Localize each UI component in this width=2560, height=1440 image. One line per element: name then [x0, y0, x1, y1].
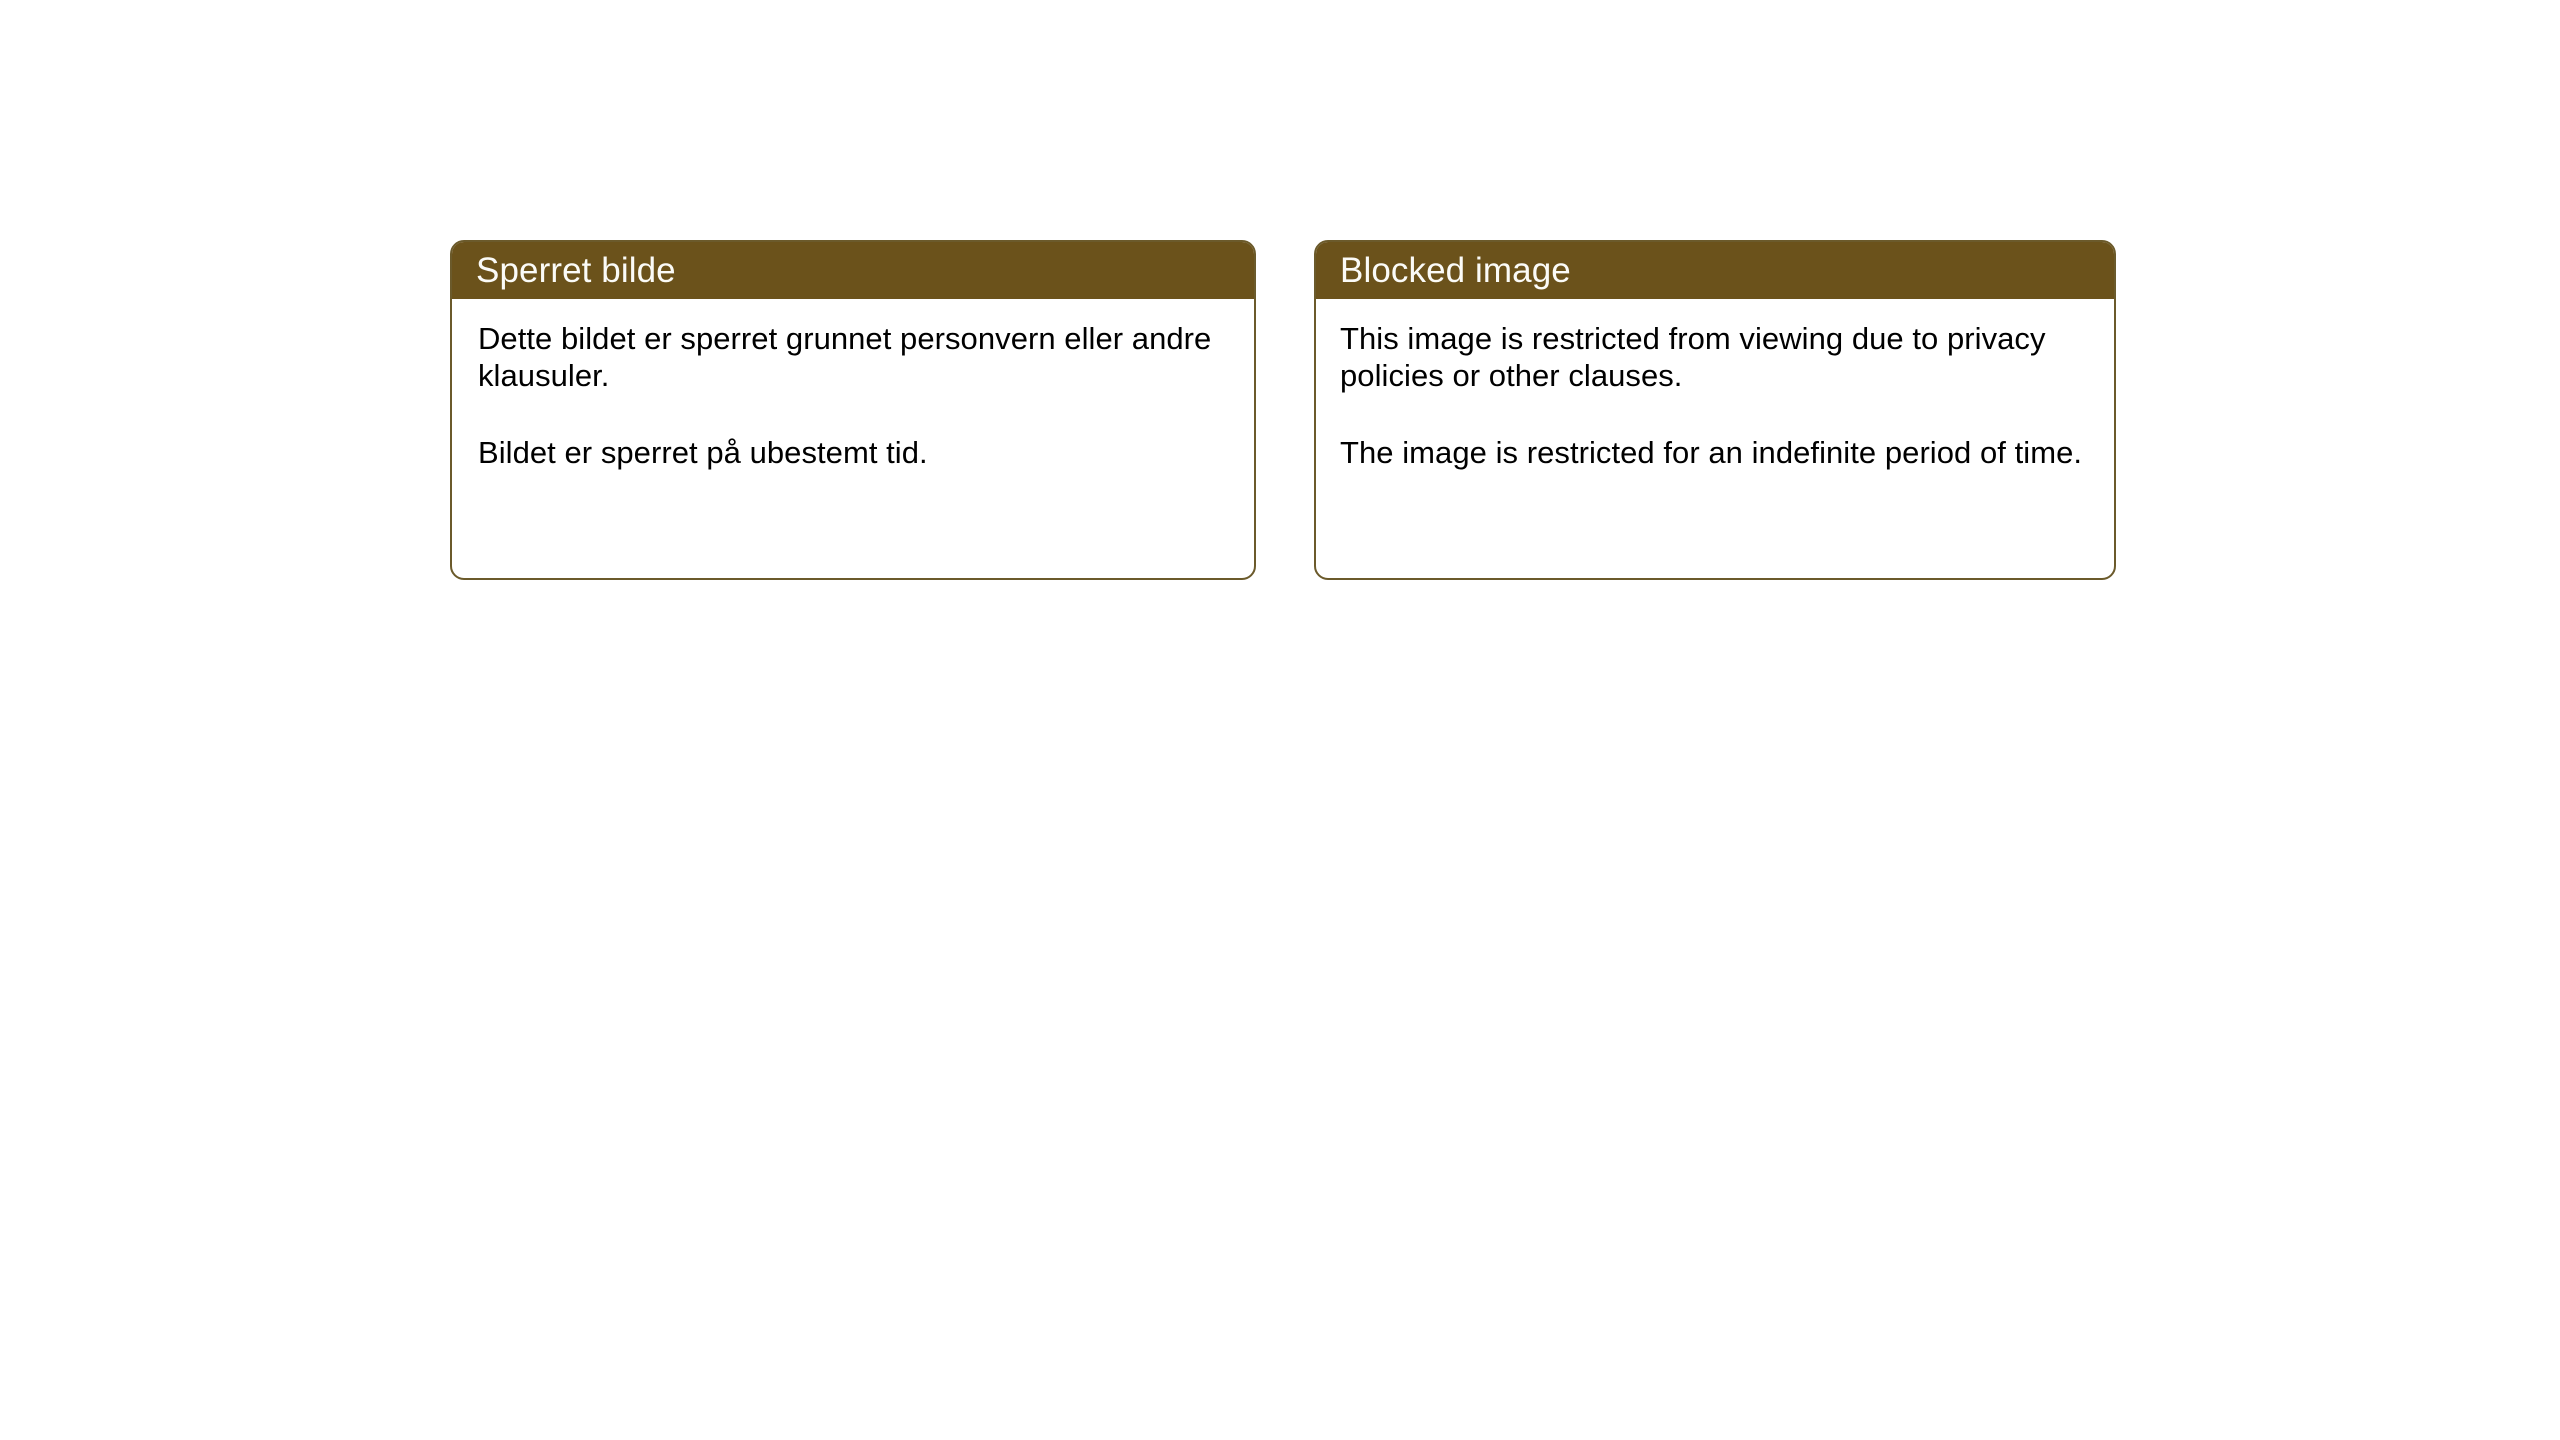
card-header-english: Blocked image: [1316, 242, 2114, 299]
card-title-norwegian: Sperret bilde: [476, 253, 676, 288]
blocked-image-notices: Sperret bilde Dette bildet er sperret gr…: [450, 240, 2116, 580]
card-paragraph-reason-english: This image is restricted from viewing du…: [1340, 321, 2100, 395]
card-paragraph-duration-norwegian: Bildet er sperret på ubestemt tid.: [478, 435, 1234, 472]
card-body-english: This image is restricted from viewing du…: [1316, 299, 2114, 578]
card-header-norwegian: Sperret bilde: [452, 242, 1254, 299]
blocked-image-card-english: Blocked image This image is restricted f…: [1314, 240, 2116, 580]
blocked-image-card-norwegian: Sperret bilde Dette bildet er sperret gr…: [450, 240, 1256, 580]
card-body-norwegian: Dette bildet er sperret grunnet personve…: [452, 299, 1254, 578]
card-paragraph-reason-norwegian: Dette bildet er sperret grunnet personve…: [478, 321, 1234, 395]
card-paragraph-duration-english: The image is restricted for an indefinit…: [1340, 435, 2100, 472]
card-title-english: Blocked image: [1340, 253, 1571, 288]
